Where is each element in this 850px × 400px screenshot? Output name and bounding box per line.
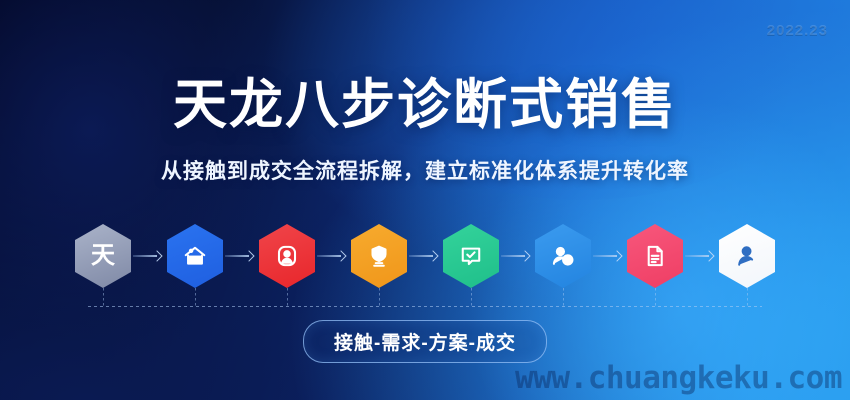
flow-step-2[interactable] [167, 224, 223, 288]
flow-arrow-7 [683, 249, 719, 263]
hexagon-7 [627, 224, 683, 288]
chat-check-icon [443, 224, 499, 288]
hexagon-5 [443, 224, 499, 288]
hexagon-2 [167, 224, 223, 288]
page-title: 天龙八步诊断式销售 [0, 78, 850, 132]
person-portrait-icon [259, 224, 315, 288]
drop-line-3 [287, 288, 288, 306]
flow-arrow-5 [499, 249, 535, 263]
drop-line-4 [379, 288, 380, 306]
promo-banner: 2022.23 天龙八步诊断式销售 从接触到成交全流程拆解，建立标准化体系提升转… [0, 0, 850, 400]
process-flow-steps: 天 [0, 218, 850, 294]
flow-step-3[interactable] [259, 224, 315, 288]
hexagon-6 [535, 224, 591, 288]
stage-summary-badge: 接触-需求-方案-成交 [303, 320, 547, 363]
document-icon [627, 224, 683, 288]
flow-step-5[interactable] [443, 224, 499, 288]
timeline-dotted-line [88, 306, 762, 307]
hexagon-3 [259, 224, 315, 288]
hexagon-8 [719, 224, 775, 288]
hexagon-1: 天 [75, 224, 131, 288]
process-flow: 天 [0, 218, 850, 294]
flow-step-1[interactable]: 天 [75, 224, 131, 288]
flow-step-4[interactable] [351, 224, 407, 288]
flow-arrow-2 [223, 249, 259, 263]
drop-line-5 [471, 288, 472, 306]
user-solid-icon [719, 224, 775, 288]
drop-line-1 [103, 288, 104, 306]
drop-line-2 [195, 288, 196, 306]
corner-code-text: 2022.23 [767, 22, 828, 39]
hexagon-label: 天 [91, 244, 115, 268]
hexagon-4 [351, 224, 407, 288]
flow-step-7[interactable] [627, 224, 683, 288]
flow-arrow-3 [315, 249, 351, 263]
drop-line-7 [655, 288, 656, 306]
drop-line-6 [563, 288, 564, 306]
person-badge-icon [535, 224, 591, 288]
flow-arrow-4 [407, 249, 443, 263]
tian-character-icon: 天 [75, 224, 131, 288]
flow-arrow-6 [591, 249, 627, 263]
house-icon [167, 224, 223, 288]
drop-line-8 [747, 288, 748, 306]
site-watermark: www.chuangkeku.com [515, 360, 842, 396]
shield-trophy-icon [351, 224, 407, 288]
page-subtitle: 从接触到成交全流程拆解，建立标准化体系提升转化率 [0, 155, 850, 185]
flow-step-8[interactable] [719, 224, 775, 288]
flow-arrow-1 [131, 249, 167, 263]
flow-step-6[interactable] [535, 224, 591, 288]
